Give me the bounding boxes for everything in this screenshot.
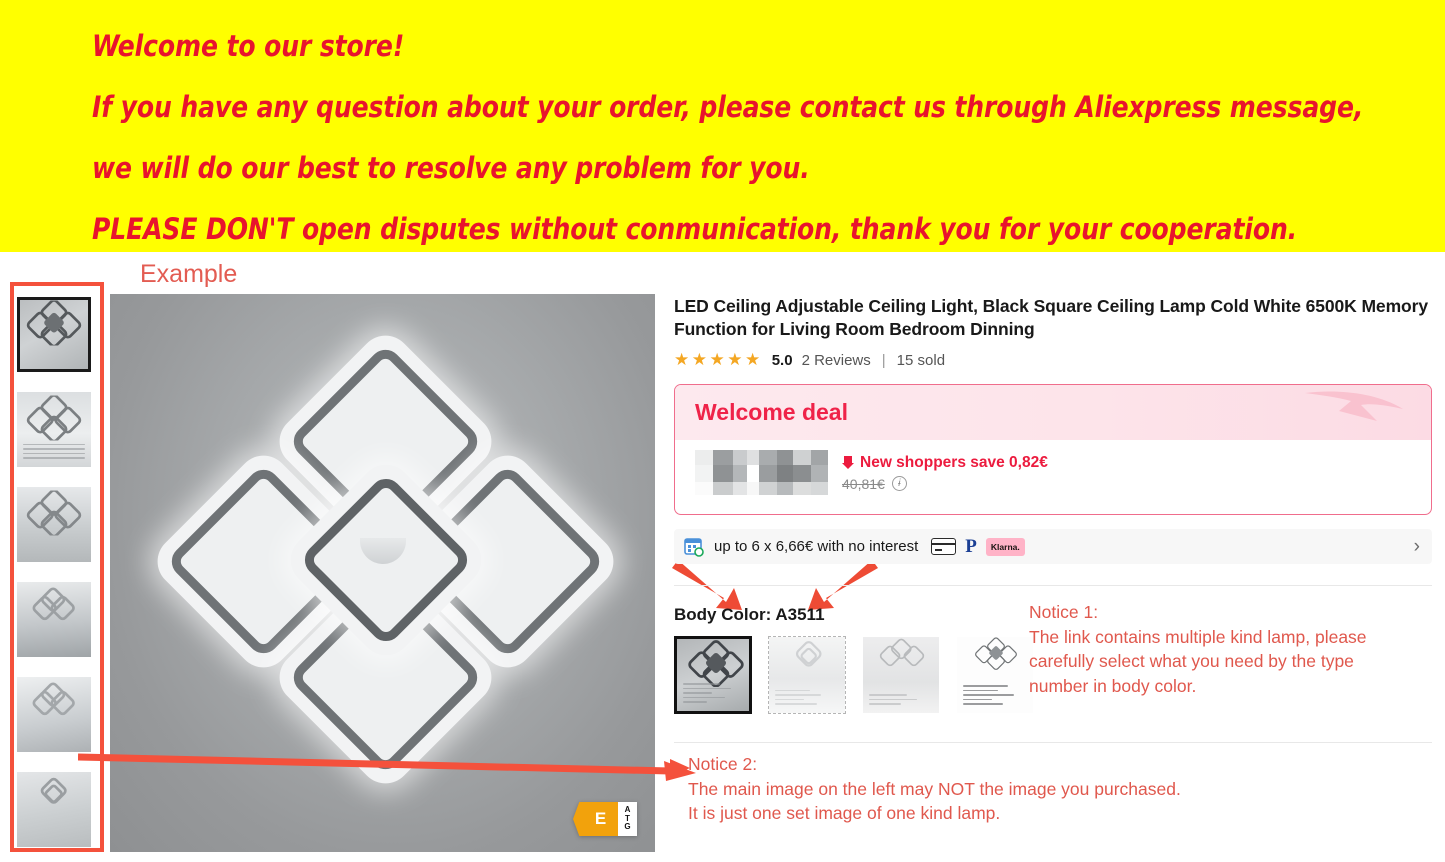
notice-1: Notice 1: The link contains multiple kin… <box>1029 600 1429 698</box>
deal-old-price-row: 40,81€ i <box>842 476 1048 492</box>
page-title: LED Ceiling Adjustable Ceiling Light, Bl… <box>674 295 1434 341</box>
section-divider <box>674 585 1432 586</box>
rating-row: ★★★★★ 5.0 2 Reviews | 15 sold <box>674 350 1434 370</box>
star-rating-icon: ★★★★★ <box>674 350 763 370</box>
notice-1-line-1: The link contains multiple kind lamp, pl… <box>1029 625 1429 650</box>
energy-label-badge: E A T G <box>573 802 637 836</box>
thumbnail-strip[interactable] <box>17 297 91 847</box>
thumbnail-1[interactable] <box>17 297 91 372</box>
variant-4[interactable] <box>956 636 1034 714</box>
variant-a3511[interactable] <box>674 636 752 714</box>
thumbnail-6[interactable] <box>17 772 91 847</box>
banner-line-4: PLEASE DON'T open disputes without conmu… <box>92 199 1391 260</box>
variant-2[interactable] <box>768 636 846 714</box>
deal-swoosh-icon <box>1299 387 1409 439</box>
rating-reviews-link[interactable]: 2 Reviews <box>802 352 871 369</box>
installment-row[interactable]: up to 6 x 6,66€ with no interest P Klarn… <box>674 529 1432 564</box>
deal-old-price: 40,81€ <box>842 476 885 492</box>
store-welcome-banner: Welcome to our store! If you have any qu… <box>0 0 1445 252</box>
lamp-glyph-icon <box>863 637 940 679</box>
variant-3[interactable] <box>862 636 940 714</box>
thumbnail-spec-lines <box>23 444 85 462</box>
deal-text-column: New shoppers save 0,82€ 40,81€ i <box>842 454 1048 492</box>
rating-separator: | <box>882 352 886 369</box>
lamp-glyph-icon <box>769 637 846 681</box>
variant-spec-lines <box>683 683 743 706</box>
lamp-glyph-icon <box>677 639 752 687</box>
calendar-icon <box>684 536 704 557</box>
lamp-glyph-icon <box>24 490 84 535</box>
energy-scale-bottom: G <box>624 823 630 831</box>
lamp-glyph-icon <box>24 395 84 440</box>
thumbnail-2[interactable] <box>17 392 91 467</box>
thumbnail-3[interactable] <box>17 487 91 562</box>
main-product-image[interactable]: E A T G <box>110 294 655 852</box>
welcome-deal-title: Welcome deal <box>695 399 848 426</box>
lamp-illustration <box>153 351 613 751</box>
notice-divider <box>674 742 1432 743</box>
notice-2-line-1: The main image on the left may NOT the i… <box>688 777 1308 802</box>
variant-spec-lines <box>775 690 839 708</box>
installment-text: up to 6 x 6,66€ with no interest <box>714 538 918 555</box>
banner-line-1: Welcome to our store! <box>92 16 1391 77</box>
info-icon[interactable]: i <box>892 476 907 491</box>
hidden-price-mosaic <box>695 450 828 495</box>
klarna-logo: Klarna. <box>986 538 1025 556</box>
lamp-glyph-icon <box>24 585 84 630</box>
payment-icons: P Klarna. <box>931 537 1024 556</box>
sold-count: 15 sold <box>897 352 945 369</box>
thumbnail-4[interactable] <box>17 582 91 657</box>
rating-score: 5.0 <box>772 352 793 369</box>
notice-2-line-2: It is just one set image of one kind lam… <box>688 801 1308 826</box>
variant-spec-lines <box>869 694 933 708</box>
example-label: Example <box>140 260 237 289</box>
notice-1-line-2: carefully select what you need by the ty… <box>1029 649 1429 674</box>
welcome-deal-body: New shoppers save 0,82€ 40,81€ i <box>675 440 1431 495</box>
paypal-logo: P <box>965 537 977 556</box>
chevron-right-icon[interactable]: › <box>1414 536 1420 558</box>
notice-2-heading: Notice 2: <box>688 752 1308 777</box>
deal-save-text: New shoppers save 0,82€ <box>860 454 1048 472</box>
variant-spec-lines <box>963 685 1027 708</box>
welcome-deal-box[interactable]: Welcome deal <box>674 384 1432 515</box>
notice-1-heading: Notice 1: <box>1029 600 1429 625</box>
banner-line-3: we will do our best to resolve any probl… <box>92 138 1391 199</box>
lamp-glyph-icon <box>957 637 1034 677</box>
lamp-glyph-icon <box>24 775 84 820</box>
energy-class-arrow: E <box>573 802 618 836</box>
notice-2: Notice 2: The main image on the left may… <box>688 752 1308 826</box>
credit-card-icon <box>931 538 956 555</box>
thumbnail-5[interactable] <box>17 677 91 752</box>
banner-line-2: If you have any question about your orde… <box>92 77 1391 138</box>
deal-save-row: New shoppers save 0,82€ <box>842 454 1048 472</box>
welcome-deal-header: Welcome deal <box>675 385 1431 440</box>
energy-scale: A T G <box>618 802 637 836</box>
lamp-glyph-icon <box>24 300 84 345</box>
notice-1-line-3: number in body color. <box>1029 674 1429 699</box>
price-down-arrow-icon <box>842 455 854 470</box>
lamp-glyph-icon <box>24 680 84 725</box>
